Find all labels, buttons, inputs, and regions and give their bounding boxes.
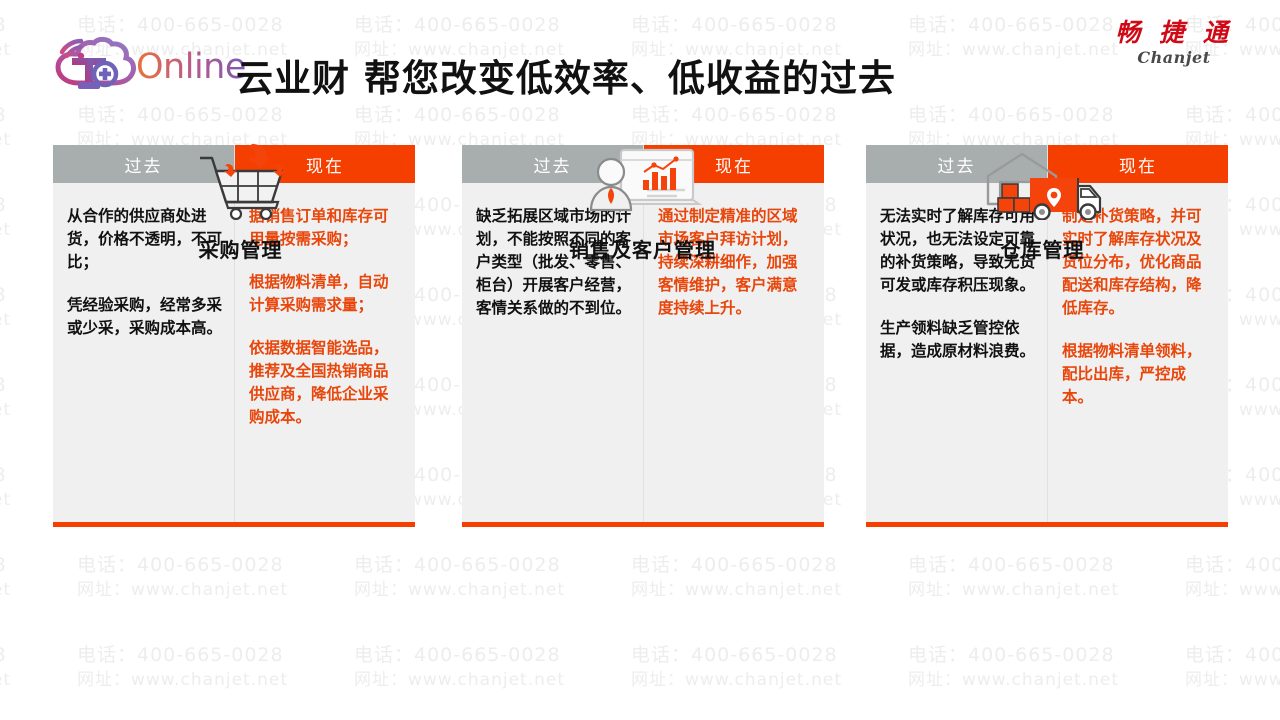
watermark-text: 电话：400-665-0028网址：www.chanjet.net bbox=[0, 282, 11, 332]
analytics-person-icon bbox=[455, 140, 830, 220]
watermark-text: 电话：400-665-0028网址：www.chanjet.net bbox=[1185, 552, 1280, 602]
warehouse-truck-icon bbox=[855, 140, 1230, 220]
watermark-text: 电话：400-665-0028网址：www.chanjet.net bbox=[77, 552, 288, 602]
column-title: 仓库管理 bbox=[855, 234, 1230, 263]
watermark-text: 电话：400-665-0028网址：www.chanjet.net bbox=[77, 642, 288, 692]
column-purchase: 采购管理 bbox=[53, 140, 428, 263]
brand-name-en: Chanjet bbox=[1104, 48, 1244, 67]
watermark-text: 电话：400-665-0028网址：www.chanjet.net bbox=[0, 192, 11, 242]
slide-header: Online 云业财 帮您改变低效率、低收益的过去 畅 捷 通 Chanjet bbox=[0, 0, 1280, 118]
brand-name-cn: 畅 捷 通 bbox=[1104, 18, 1244, 48]
slide-canvas: 电话：400-665-0028网址：www.chanjet.net电话：400-… bbox=[0, 0, 1280, 720]
watermark-text: 电话：400-665-0028网址：www.chanjet.net bbox=[0, 372, 11, 422]
page-title: 云业财 帮您改变低效率、低收益的过去 bbox=[236, 48, 896, 102]
paragraph: 生产领料缺乏管控依据，造成原材料浪费。 bbox=[880, 317, 1035, 363]
column-sales: 销售及客户管理 bbox=[455, 140, 830, 263]
tplus-online-logo: Online bbox=[48, 36, 244, 98]
watermark-text: 电话：400-665-0028网址：www.chanjet.net bbox=[908, 642, 1119, 692]
watermark-text: 电话：400-665-0028网址：www.chanjet.net bbox=[354, 552, 565, 602]
watermark-text: 电话：400-665-0028网址：www.chanjet.net bbox=[0, 552, 11, 602]
watermark-text: 电话：400-665-0028网址：www.chanjet.net bbox=[1185, 642, 1280, 692]
paragraph: 凭经验采购，经常多采或少采，采购成本高。 bbox=[67, 294, 222, 340]
paragraph: 根据物料清单领料，配比出库，严控成本。 bbox=[1062, 340, 1216, 409]
watermark-text: 电话：400-665-0028网址：www.chanjet.net bbox=[908, 552, 1119, 602]
shopping-cart-icon bbox=[53, 140, 428, 220]
column-warehouse: 仓库管理 bbox=[855, 140, 1230, 263]
watermark-text: 电话：400-665-0028网址：www.chanjet.net bbox=[354, 642, 565, 692]
logo-online-text: Online bbox=[136, 47, 246, 87]
tplus-cloud-icon bbox=[48, 36, 140, 98]
paragraph: 依据数据智能选品，推荐及全国热销商品供应商，降低企业采购成本。 bbox=[249, 337, 403, 429]
watermark-text: 电话：400-665-0028网址：www.chanjet.net bbox=[0, 462, 11, 512]
watermark-text: 电话：400-665-0028网址：www.chanjet.net bbox=[631, 642, 842, 692]
paragraph: 根据物料清单，自动计算采购需求量； bbox=[249, 271, 403, 317]
chanjet-brand-logo: 畅 捷 通 Chanjet bbox=[1104, 18, 1244, 67]
column-title: 销售及客户管理 bbox=[455, 234, 830, 263]
watermark-text: 电话：400-665-0028网址：www.chanjet.net bbox=[631, 552, 842, 602]
column-title: 采购管理 bbox=[53, 234, 428, 263]
watermark-text: 电话：400-665-0028网址：www.chanjet.net bbox=[0, 642, 11, 692]
